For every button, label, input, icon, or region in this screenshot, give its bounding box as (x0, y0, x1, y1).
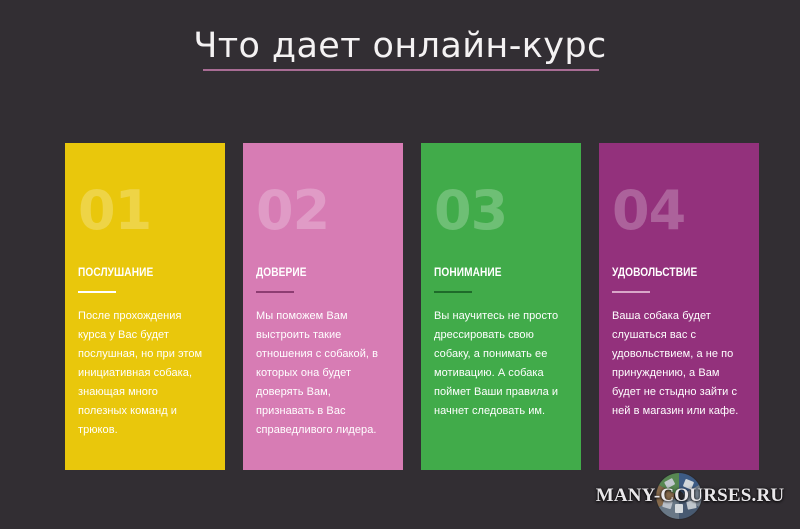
card-number: 01 (78, 184, 210, 238)
card-number: 03 (434, 184, 566, 238)
card-body-text: Вы научитесь не просто дрессировать свою… (434, 307, 566, 421)
card-body-text: Мы поможем Вам выстроить такие отношения… (256, 307, 388, 440)
card-divider-rule (434, 291, 472, 293)
benefit-card-1: 01 ПОСЛУШАНИЕ После прохождения курса у … (65, 143, 225, 470)
benefit-card-4: 04 УДОВОЛЬСТВИЕ Ваша собака будет слушат… (599, 143, 759, 470)
card-divider-rule (612, 291, 650, 293)
benefit-card-2: 02 ДОВЕРИЕ Мы поможем Вам выстроить таки… (243, 143, 403, 470)
heading-block: Что дает онлайн-курс (0, 24, 800, 68)
card-heading: ПОНИМАНИЕ (434, 266, 550, 280)
card-heading: ПОСЛУШАНИЕ (78, 266, 194, 280)
benefit-card-3: 03 ПОНИМАНИЕ Вы научитесь не просто дрес… (421, 143, 581, 470)
card-number: 02 (256, 184, 388, 238)
benefit-cards-row: 01 ПОСЛУШАНИЕ После прохождения курса у … (65, 143, 765, 470)
title-underline-rule (203, 69, 599, 71)
card-heading: УДОВОЛЬСТВИЕ (612, 266, 728, 280)
card-number: 04 (612, 184, 744, 238)
card-divider-rule (256, 291, 294, 293)
card-heading: ДОВЕРИЕ (256, 266, 372, 280)
card-body-text: Ваша собака будет слушаться вас с удовол… (612, 307, 744, 421)
card-divider-rule (78, 291, 116, 293)
watermark: MANY-COURSES.RU (592, 471, 788, 521)
page-title: Что дает онлайн-курс (0, 24, 800, 68)
watermark-text: MANY-COURSES.RU (592, 485, 788, 507)
slide-canvas: Что дает онлайн-курс 01 ПОСЛУШАНИЕ После… (0, 0, 800, 529)
card-body-text: После прохождения курса у Вас будет посл… (78, 307, 210, 440)
